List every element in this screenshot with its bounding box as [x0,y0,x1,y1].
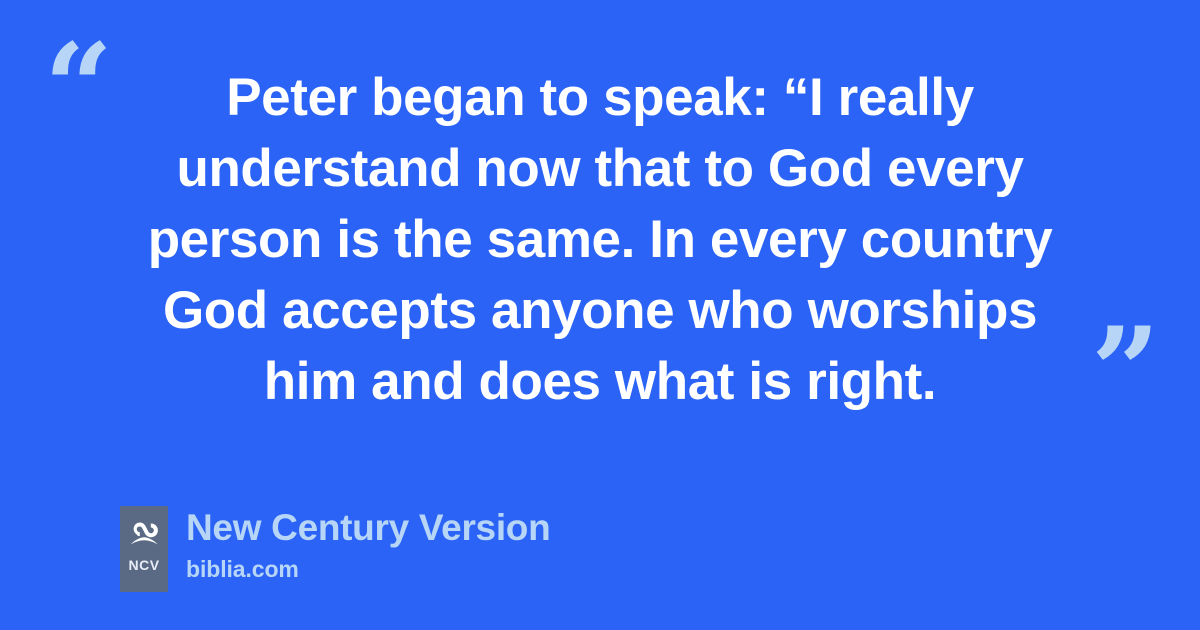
website-link[interactable]: biblia.com [186,554,550,584]
verse-line: person is the same. In every country [100,204,1100,275]
attribution-row: NCV New Century Version biblia.com [120,506,550,592]
ncv-logo-badge: NCV [120,506,168,592]
ncv-monogram-icon [129,514,159,546]
verse-line: him and does what is right. [100,346,1100,417]
verse-image-card: “ ” Peter began to speak: “I really unde… [0,0,1200,630]
translation-name-label: New Century Version [186,506,550,550]
closing-quote-icon: ” [1091,312,1158,432]
verse-line: God accepts anyone who worships [100,275,1100,346]
ncv-abbreviation-label: NCV [128,557,159,573]
attribution-text-block: New Century Version biblia.com [186,506,550,584]
verse-text: Peter began to speak: “I really understa… [100,62,1100,417]
verse-line: Peter began to speak: “I really [100,62,1100,133]
verse-line: understand now that to God every [100,133,1100,204]
